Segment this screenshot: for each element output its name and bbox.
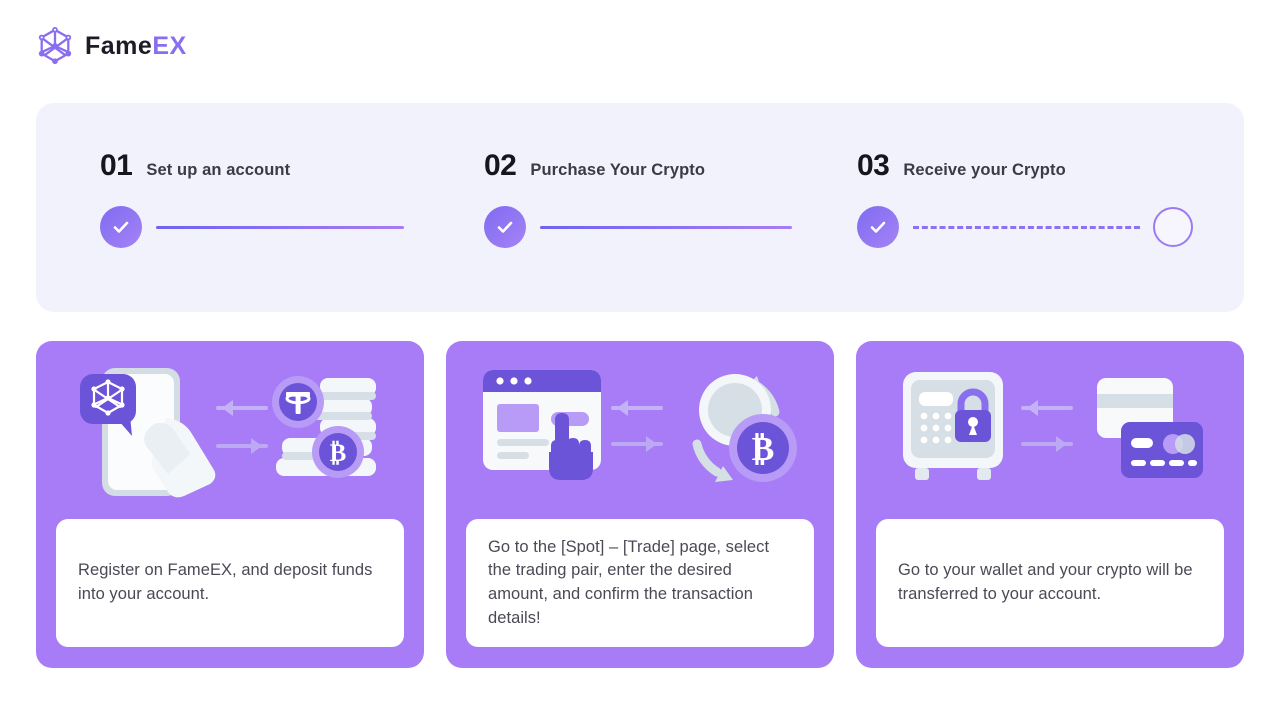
- check-icon: [857, 206, 899, 248]
- brand-name-primary: Fame: [85, 32, 152, 60]
- step-3-connector: [913, 226, 1140, 229]
- step-2-number: 02: [484, 151, 516, 181]
- step-card-2-text: Go to the [Spot] – [Trade] page, select …: [488, 536, 792, 631]
- step-1-heading: 01 Set up an account: [100, 151, 420, 181]
- step-3-number: 03: [857, 151, 889, 181]
- step-2-connector: [540, 226, 792, 229]
- step-2-heading: 02 Purchase Your Crypto: [484, 151, 793, 181]
- arrow-right-icon: [611, 436, 663, 452]
- safe-vault-credit-cards-illustration: [856, 341, 1244, 519]
- arrow-right-icon: [1021, 436, 1073, 452]
- brand-header: FameEX: [36, 26, 187, 66]
- progress-steps-panel: 01 Set up an account 02 Purchase Your Cr…: [36, 103, 1244, 312]
- step-item-3[interactable]: 03 Receive your Crypto: [793, 103, 1193, 312]
- fameex-logo-icon: [36, 26, 74, 66]
- step-1-number: 01: [100, 151, 132, 181]
- step-card-2[interactable]: ₿ Go to the [Spot] – [Trade] page, selec…: [446, 341, 834, 668]
- step-1-label: Set up an account: [146, 162, 290, 179]
- step-item-2[interactable]: 02 Purchase Your Crypto: [420, 103, 793, 312]
- step-3-label: Receive your Crypto: [903, 162, 1065, 179]
- step-card-1-note: Register on FameEX, and deposit funds in…: [56, 519, 404, 647]
- check-icon: [100, 206, 142, 248]
- phone-chat-deposit-coins-illustration: ₿: [36, 341, 424, 519]
- step-1-connector: [156, 226, 404, 229]
- arrow-left-icon: [216, 400, 268, 416]
- browser-click-swap-bitcoin-illustration: ₿: [446, 341, 834, 519]
- step-card-3-text: Go to your wallet and your crypto will b…: [898, 559, 1202, 607]
- brand-wordmark: FameEX: [85, 34, 187, 59]
- check-icon: [484, 206, 526, 248]
- arrow-right-icon: [216, 438, 268, 454]
- step-card-1[interactable]: ₿ Register on FameEX, and deposit funds …: [36, 341, 424, 668]
- step-item-1[interactable]: 01 Set up an account: [36, 103, 420, 312]
- step-3-end-circle-icon: [1153, 207, 1193, 247]
- arrow-left-icon: [611, 400, 663, 416]
- step-2-track: [484, 206, 793, 248]
- step-3-heading: 03 Receive your Crypto: [857, 151, 1193, 181]
- step-2-label: Purchase Your Crypto: [530, 162, 705, 179]
- arrow-left-icon: [1021, 400, 1073, 416]
- step-card-2-note: Go to the [Spot] – [Trade] page, select …: [466, 519, 814, 647]
- step-card-1-text: Register on FameEX, and deposit funds in…: [78, 559, 382, 607]
- steps-cards-row: ₿ Register on FameEX, and deposit funds …: [36, 341, 1244, 668]
- step-1-track: [100, 206, 420, 248]
- svg-text:₿: ₿: [330, 440, 347, 467]
- step-card-3-note: Go to your wallet and your crypto will b…: [876, 519, 1224, 647]
- svg-text:₿: ₿: [752, 431, 775, 468]
- step-3-track: [857, 206, 1193, 248]
- step-card-3[interactable]: Go to your wallet and your crypto will b…: [856, 341, 1244, 668]
- brand-name-accent: EX: [152, 32, 186, 60]
